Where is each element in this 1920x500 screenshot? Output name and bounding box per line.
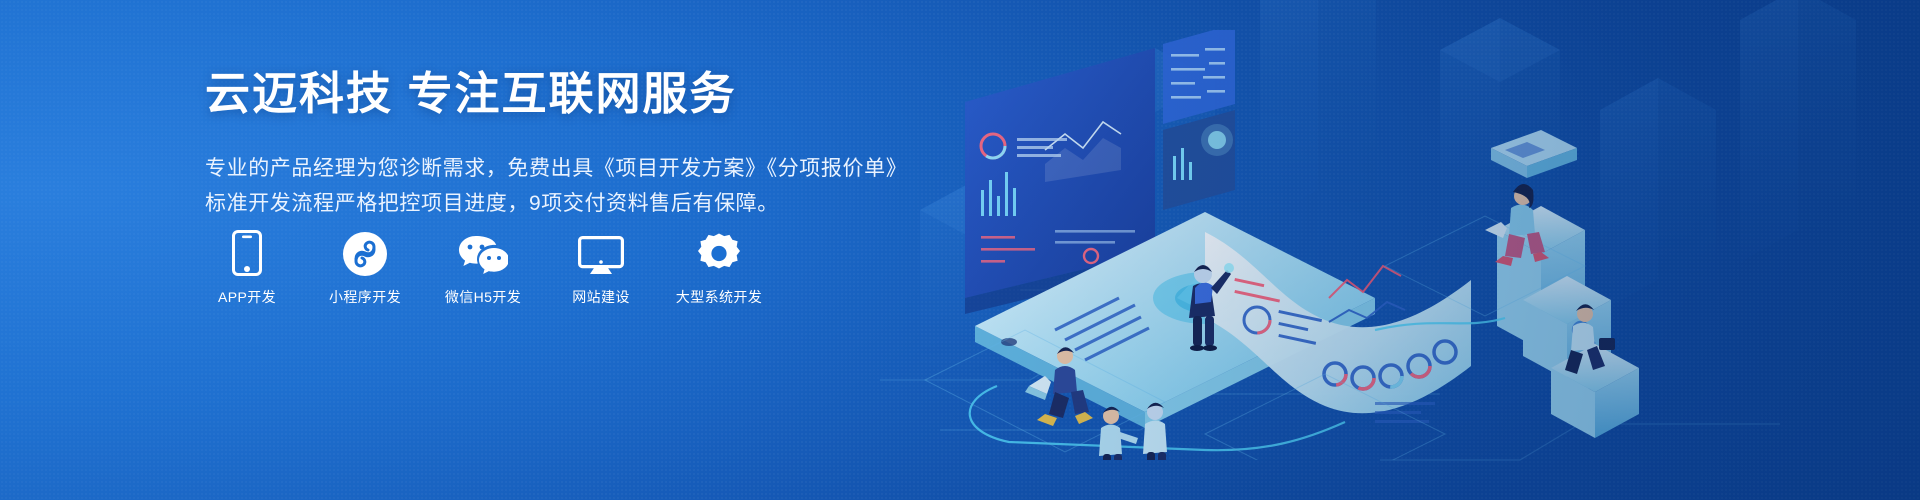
service-list: APP开发 小程序开发 [205, 228, 761, 304]
service-label: APP开发 [218, 290, 276, 304]
service-label: 网站建设 [572, 290, 630, 304]
service-item-mini-program[interactable]: 小程序开发 [323, 228, 407, 304]
service-item-website[interactable]: 网站建设 [559, 228, 643, 304]
subtitle-line-1: 专业的产品经理为您诊断需求，免费出具《项目开发方案》《分项报价单》 [205, 152, 905, 185]
gear-icon [697, 228, 741, 276]
mini-program-icon [343, 228, 387, 276]
hero-banner: 云迈科技 专注互联网服务 专业的产品经理为您诊断需求，免费出具《项目开发方案》《… [0, 0, 1920, 500]
wechat-icon [458, 228, 508, 276]
service-item-app[interactable]: APP开发 [205, 228, 289, 304]
service-label: 小程序开发 [329, 290, 401, 304]
report-paper [1205, 232, 1471, 423]
chat-bubble [1491, 130, 1577, 178]
monitor-icon [578, 228, 624, 276]
service-item-large-system[interactable]: 大型系统开发 [677, 228, 761, 304]
mobile-phone-icon [232, 228, 262, 276]
hero-copy: 云迈科技 专注互联网服务 专业的产品经理为您诊断需求，免费出具《项目开发方案》《… [205, 70, 905, 220]
service-label: 微信H5开发 [445, 290, 521, 304]
service-item-wechat-h5[interactable]: 微信H5开发 [441, 228, 525, 304]
service-label: 大型系统开发 [676, 290, 762, 304]
isometric-tech-illustration [905, 30, 1665, 460]
subtitle-line-2: 标准开发流程严格把控项目进度，9项交付资料售后有保障。 [205, 187, 905, 220]
page-title: 云迈科技 专注互联网服务 [205, 70, 905, 119]
